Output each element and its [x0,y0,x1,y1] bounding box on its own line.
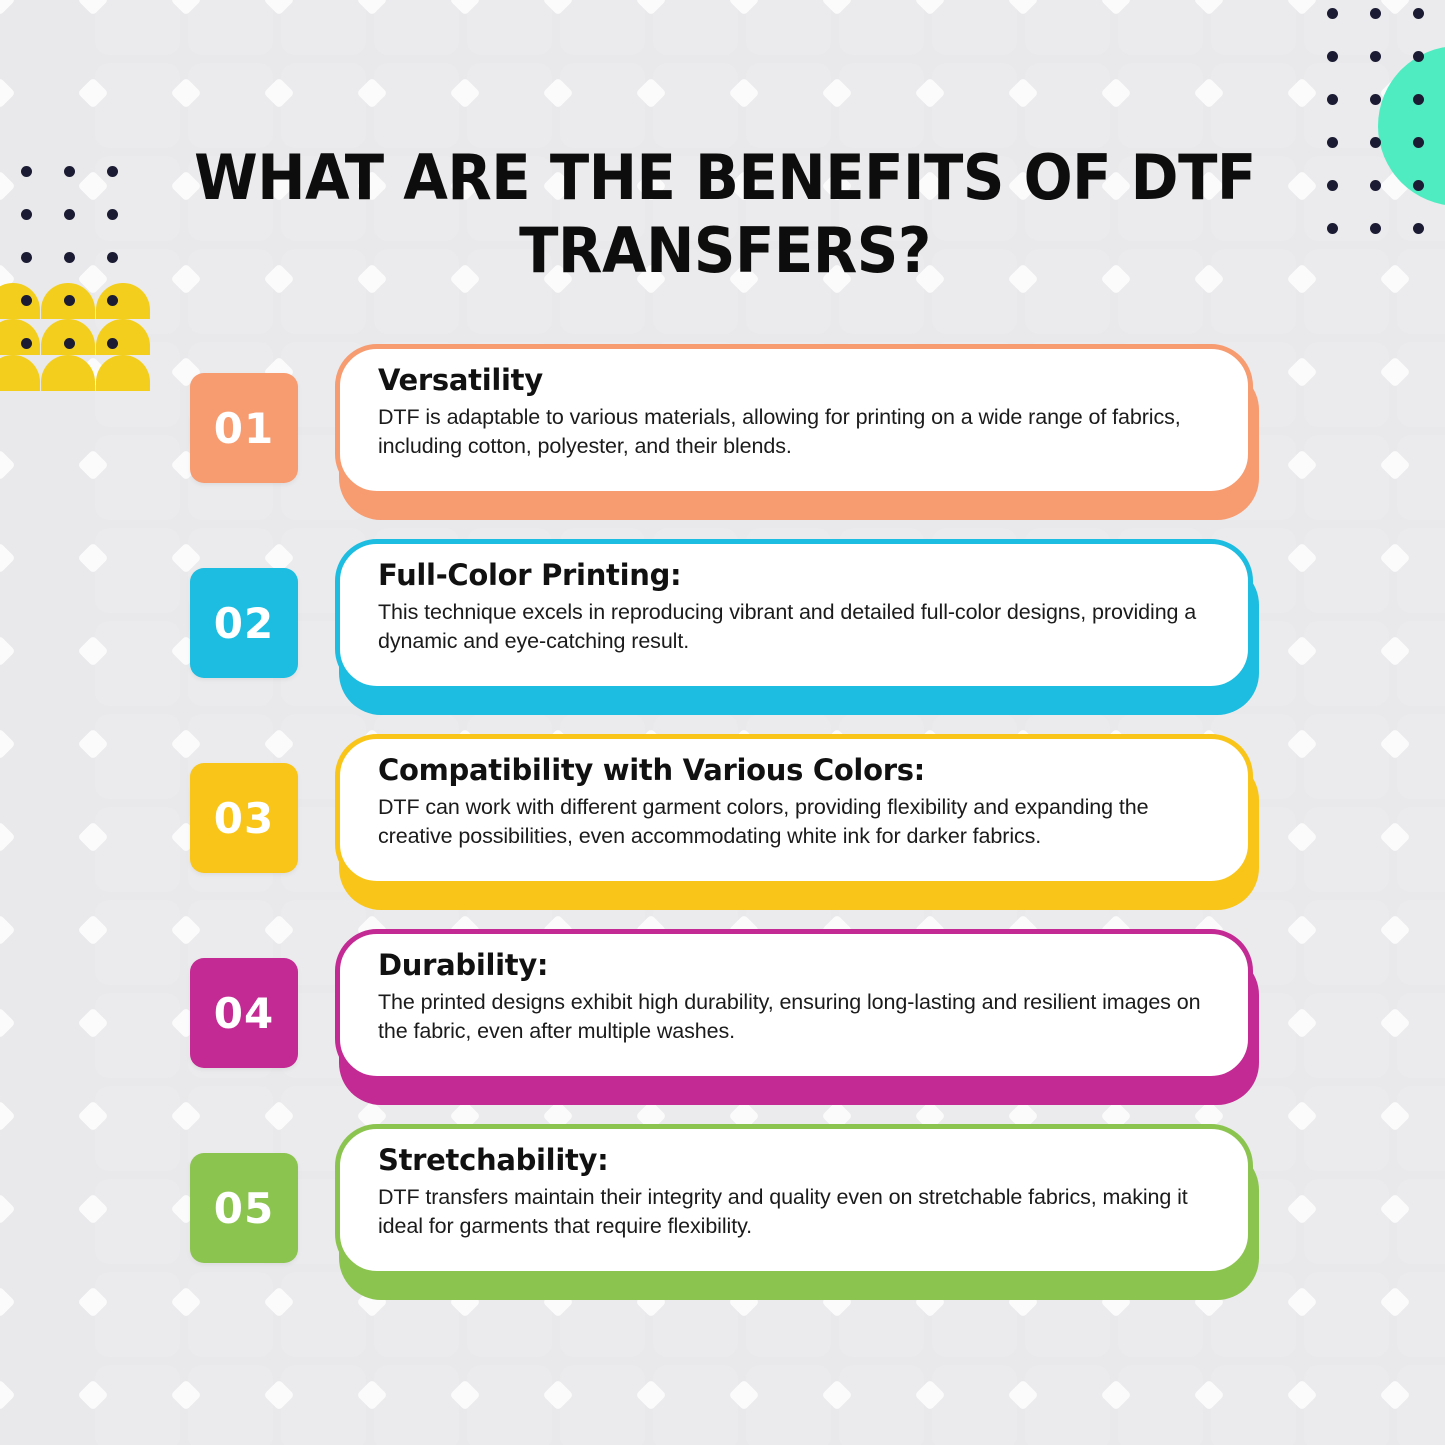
benefit-row: 01VersatilityDTF is adaptable to various… [0,344,1445,539]
grid-tile [560,63,645,148]
grid-diamond [356,1379,387,1410]
grid-diamond [914,0,945,16]
grid-diamond [356,77,387,108]
benefit-card[interactable]: Full-Color Printing:This technique excel… [335,539,1253,691]
benefit-card[interactable]: VersatilityDTF is adaptable to various m… [335,344,1253,496]
grid-diamond [1379,1379,1410,1410]
decorative-dot [21,166,32,177]
decorative-dot [1327,137,1338,148]
grid-tile [1118,63,1203,148]
grid-tile [1025,1365,1110,1445]
decorative-dot [64,209,75,220]
decorative-dot [21,209,32,220]
grid-diamond [635,1379,666,1410]
grid-tile [1211,1365,1296,1445]
decorative-dot [1370,180,1381,191]
benefit-heading: Stretchability: [378,1145,1214,1177]
grid-diamond [170,77,201,108]
grid-tile [653,63,738,148]
grid-diamond [1286,1379,1317,1410]
grid-diamond [356,0,387,16]
decorative-dot [1413,51,1424,62]
grid-tile [839,63,924,148]
grid-tile [1118,1365,1203,1445]
grid-diamond [170,1379,201,1410]
infographic-poster: WHAT ARE THE BENEFITS OF DTF TRANSFERS? … [0,0,1445,1445]
grid-tile [1397,1365,1445,1445]
grid-diamond [914,1379,945,1410]
grid-diamond [1100,77,1131,108]
benefit-card-wrapper: Full-Color Printing:This technique excel… [335,539,1259,709]
grid-tile [95,1365,180,1445]
grid-diamond [1007,1379,1038,1410]
decorative-dot [1327,8,1338,19]
benefit-number-badge[interactable]: 04 [190,958,298,1068]
decorative-dot [1370,8,1381,19]
decorative-dot [64,252,75,263]
grid-diamond [77,77,108,108]
benefit-heading: Versatility [378,365,1214,397]
grid-diamond [170,0,201,16]
benefit-body-text: DTF can work with different garment colo… [378,793,1214,851]
grid-tile [188,0,273,55]
grid-diamond [0,0,16,16]
grid-diamond [542,1379,573,1410]
grid-diamond [635,0,666,16]
grid-tile [932,0,1017,55]
grid-tile [374,1365,459,1445]
grid-diamond [1100,1379,1131,1410]
grid-row [95,1365,1445,1445]
benefit-card-wrapper: Compatibility with Various Colors:DTF ca… [335,734,1259,904]
decorative-dot [64,166,75,177]
benefit-row: 04Durability:The printed designs exhibit… [0,929,1445,1124]
decorative-dot [21,252,32,263]
benefit-body-text: The printed designs exhibit high durabil… [378,988,1214,1046]
grid-tile [467,0,552,55]
decorative-dot [107,166,118,177]
decorative-dot [1327,94,1338,105]
grid-tile [1211,63,1296,148]
benefit-number-badge[interactable]: 01 [190,373,298,483]
benefit-card[interactable]: Durability:The printed designs exhibit h… [335,929,1253,1081]
grid-diamond [0,1379,16,1410]
grid-tile [95,0,180,55]
grid-tile [560,1365,645,1445]
grid-diamond [449,1379,480,1410]
benefit-card-wrapper: Stretchability:DTF transfers maintain th… [335,1124,1259,1294]
dot-grid-right [1327,8,1445,266]
grid-tile [1304,1365,1389,1445]
grid-tile [467,1365,552,1445]
grid-diamond [635,77,666,108]
grid-tile [467,63,552,148]
grid-diamond [263,1379,294,1410]
decorative-dot [1370,223,1381,234]
benefit-row: 02Full-Color Printing:This technique exc… [0,539,1445,734]
grid-diamond [1100,0,1131,16]
grid-diamond [77,1379,108,1410]
grid-tile [932,63,1017,148]
decorative-dot [1413,223,1424,234]
grid-diamond [1286,0,1317,16]
grid-diamond [1193,77,1224,108]
grid-tile [374,0,459,55]
grid-diamond [542,77,573,108]
benefit-body-text: DTF transfers maintain their integrity a… [378,1183,1214,1241]
benefit-row: 05Stretchability:DTF transfers maintain … [0,1124,1445,1319]
decorative-dot [1327,223,1338,234]
grid-tile [95,63,180,148]
grid-diamond [0,77,16,108]
decorative-dot [21,295,32,306]
decorative-dot [107,252,118,263]
benefit-row: 03Compatibility with Various Colors:DTF … [0,734,1445,929]
decorative-dot [107,295,118,306]
benefit-number-badge[interactable]: 05 [190,1153,298,1263]
benefit-card-wrapper: Durability:The printed designs exhibit h… [335,929,1259,1099]
decorative-dot [1370,51,1381,62]
decorative-dot [107,209,118,220]
grid-diamond [263,77,294,108]
grid-tile [839,1365,924,1445]
grid-tile [374,63,459,148]
grid-diamond [1193,1379,1224,1410]
grid-tile [188,1365,273,1445]
grid-diamond [728,0,759,16]
grid-diamond [821,0,852,16]
grid-tile [1118,0,1203,55]
grid-diamond [77,0,108,16]
grid-tile [1211,0,1296,55]
benefit-body-text: This technique excels in reproducing vib… [378,598,1214,656]
decorative-dot [1327,180,1338,191]
decorative-dot [1413,137,1424,148]
benefit-card[interactable]: Stretchability:DTF transfers maintain th… [335,1124,1253,1276]
grid-diamond [914,77,945,108]
benefit-number-badge[interactable]: 02 [190,568,298,678]
grid-tile [746,1365,831,1445]
benefit-card[interactable]: Compatibility with Various Colors:DTF ca… [335,734,1253,886]
grid-diamond [1193,0,1224,16]
grid-tile [746,63,831,148]
decorative-dot [1370,94,1381,105]
grid-tile [1025,63,1110,148]
grid-diamond [1007,0,1038,16]
grid-diamond [542,0,573,16]
grid-diamond [728,1379,759,1410]
grid-tile [653,0,738,55]
grid-diamond [263,0,294,16]
grid-diamond [728,77,759,108]
grid-diamond [1286,263,1317,294]
grid-tile [281,1365,366,1445]
grid-tile [1025,0,1110,55]
benefit-card-wrapper: VersatilityDTF is adaptable to various m… [335,344,1259,514]
grid-tile [932,1365,1017,1445]
grid-tile [281,0,366,55]
grid-diamond [449,77,480,108]
grid-diamond [1286,77,1317,108]
grid-diamond [449,0,480,16]
decorative-dot [1370,137,1381,148]
benefit-number-badge[interactable]: 03 [190,763,298,873]
benefit-body-text: DTF is adaptable to various materials, a… [378,403,1214,461]
decorative-dot [1413,8,1424,19]
benefit-heading: Full-Color Printing: [378,560,1214,592]
benefit-heading: Compatibility with Various Colors: [378,755,1214,787]
decorative-dot [1327,51,1338,62]
decorative-dot [1413,180,1424,191]
grid-tile [188,63,273,148]
grid-diamond [821,1379,852,1410]
grid-tile [653,1365,738,1445]
decorative-dot [1413,94,1424,105]
benefit-heading: Durability: [378,950,1214,982]
grid-diamond [0,170,16,201]
grid-diamond [821,77,852,108]
page-title: WHAT ARE THE BENEFITS OF DTF TRANSFERS? [190,142,1260,287]
grid-tile [839,0,924,55]
grid-diamond [1286,170,1317,201]
grid-diamond [1007,77,1038,108]
grid-row [95,0,1445,63]
grid-tile [746,0,831,55]
grid-diamond [1379,263,1410,294]
benefits-list: 01VersatilityDTF is adaptable to various… [0,344,1445,1319]
grid-tile [560,0,645,55]
grid-tile [281,63,366,148]
decorative-dot [64,295,75,306]
